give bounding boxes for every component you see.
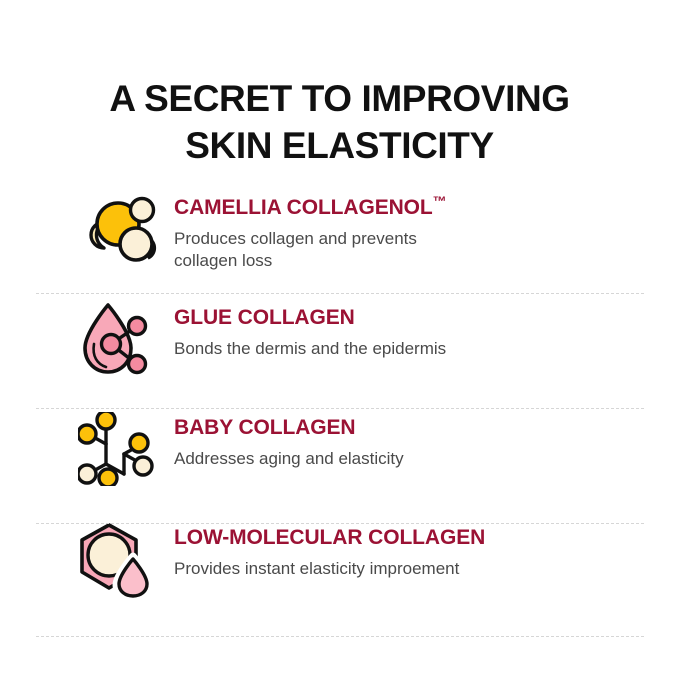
divider-4 [36,636,644,637]
divider-2 [36,408,644,409]
hexagonal-molecule-lattice-icon [78,398,174,486]
feature-list: CAMELLIA COLLAGENOL™ Produces collagen a… [0,178,679,618]
feature-text-block: CAMELLIA COLLAGENOL™ Produces collagen a… [174,178,679,272]
collagen-molecule-cluster-icon [78,178,174,264]
divider-1 [36,293,644,294]
feature-description: Bonds the dermis and the epidermis [174,338,655,360]
feature-row-camellia-collagenol: CAMELLIA COLLAGENOL™ Produces collagen a… [0,178,679,288]
feature-title-text: CAMELLIA COLLAGENOL [174,196,433,219]
pink-droplet-molecule-icon [78,288,174,378]
feature-row-baby-collagen: BABY COLLAGEN Addresses aging and elasti… [0,398,679,508]
feature-title: CAMELLIA COLLAGENOL™ [174,194,655,220]
feature-title-text: BABY COLLAGEN [174,416,356,439]
feature-title: BABY COLLAGEN [174,414,655,440]
feature-description: Addresses aging and elasticity [174,448,655,470]
divider-3 [36,523,644,524]
feature-description: Produces collagen and prevents collagen … [174,228,655,272]
feature-text-block: LOW-MOLECULAR COLLAGEN Provides instant … [174,508,679,580]
feature-row-low-molecular-collagen: LOW-MOLECULAR COLLAGEN Provides instant … [0,508,679,618]
page-title: A SECRET TO IMPROVING SKIN ELASTICITY [0,75,679,169]
feature-row-glue-collagen: GLUE COLLAGEN Bonds the dermis and the e… [0,288,679,398]
feature-description: Provides instant elasticity improement [174,558,655,580]
feature-title: GLUE COLLAGEN [174,304,655,330]
feature-text-block: GLUE COLLAGEN Bonds the dermis and the e… [174,288,679,360]
infographic-page: A SECRET TO IMPROVING SKIN ELASTICITY [0,0,679,679]
feature-title-text: GLUE COLLAGEN [174,306,355,329]
pink-hexagon-droplet-icon [78,508,174,598]
feature-title-text: LOW-MOLECULAR COLLAGEN [174,526,485,549]
trademark-symbol: ™ [433,193,447,209]
feature-title: LOW-MOLECULAR COLLAGEN [174,524,655,550]
